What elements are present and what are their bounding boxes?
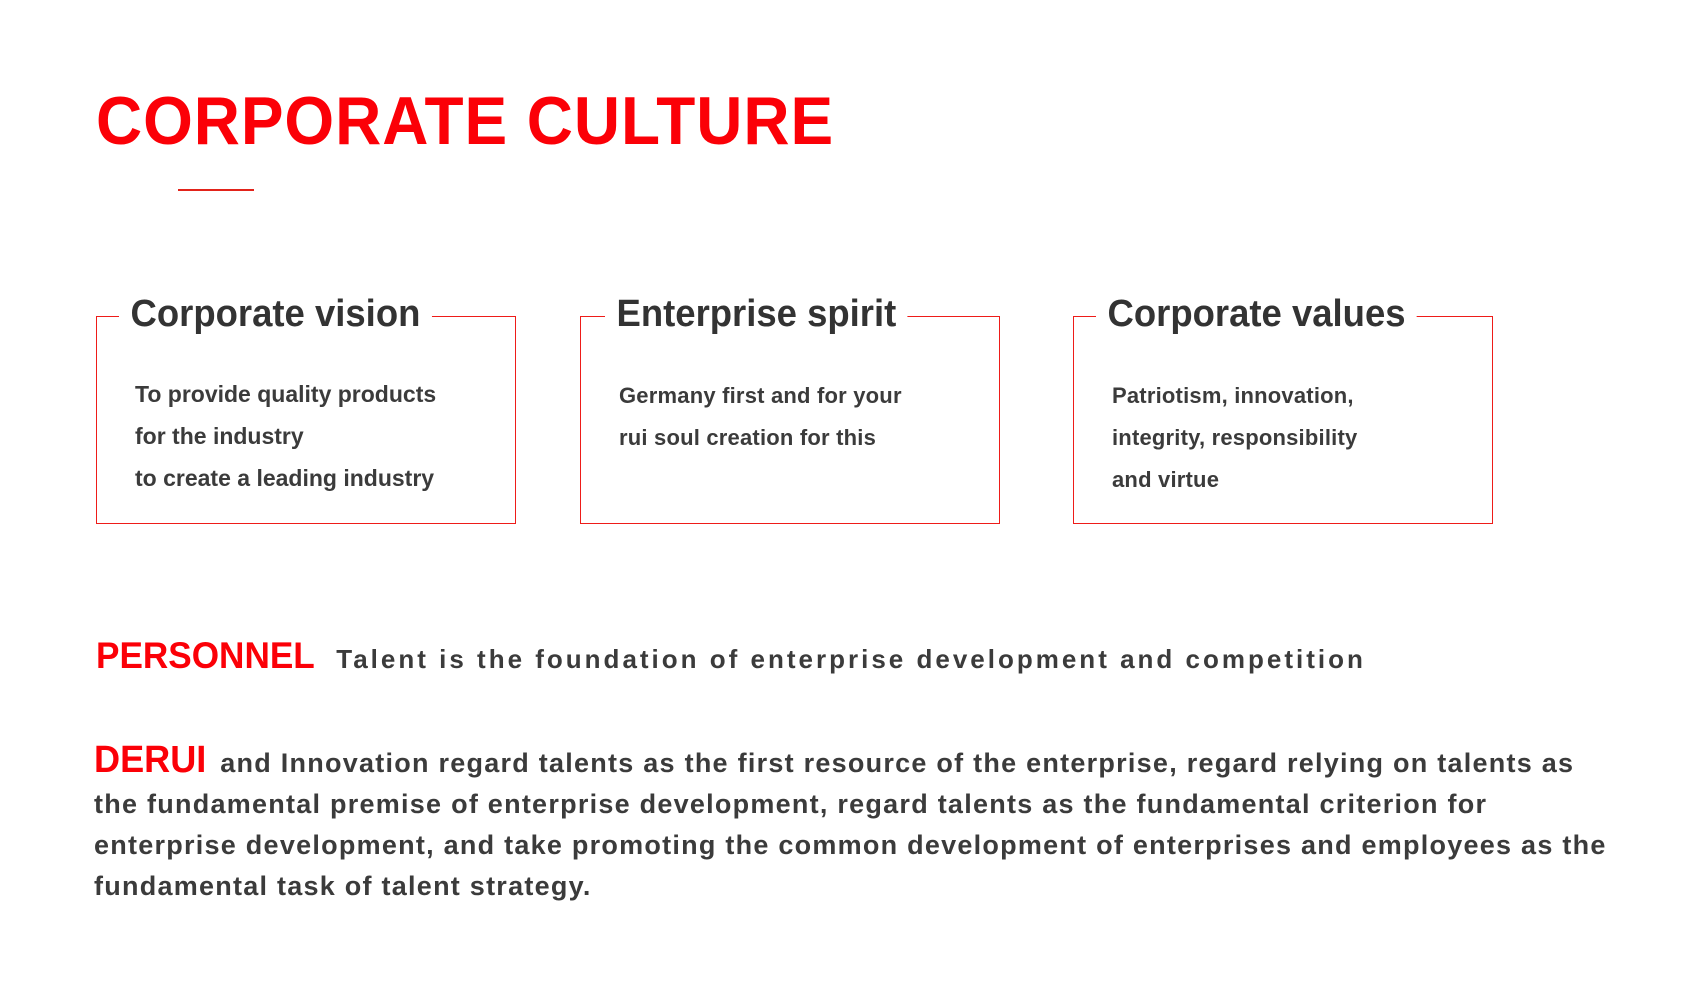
card-body-line: rui soul creation for this [619,417,981,459]
personnel-kicker: PERSONNEL [96,634,315,678]
card-body-corporate-values: Patriotism, innovation, integrity, respo… [1074,317,1492,501]
derui-paragraph: DERUIand Innovation regard talents as th… [94,742,1624,909]
card-body-enterprise-spirit: Germany first and for your rui soul crea… [581,317,999,459]
card-corporate-values: Corporate values Patriotism, innovation,… [1073,316,1493,524]
card-body-corporate-vision: To provide quality products for the indu… [97,317,515,499]
card-body-line: To provide quality products [135,373,497,415]
card-body-line: integrity, responsibility [1112,417,1474,459]
card-body-line: Germany first and for your [619,375,981,417]
card-body-line: for the industry [135,415,497,457]
personnel-row: PERSONNELTalent is the foundation of ent… [96,634,1366,681]
derui-description: and Innovation regard talents as the fir… [94,748,1607,901]
derui-kicker: DERUI [94,742,206,778]
card-enterprise-spirit: Enterprise spirit Germany first and for … [580,316,1000,524]
personnel-description: Talent is the foundation of enterprise d… [336,644,1366,674]
card-body-line: to create a leading industry [135,457,497,499]
card-body-line: and virtue [1112,459,1474,501]
derui-block: DERUIand Innovation regard talents as th… [94,742,1624,909]
slide-root: CORPORATE CULTURE Corporate vision To pr… [0,0,1701,992]
card-corporate-vision: Corporate vision To provide quality prod… [96,316,516,524]
card-body-line: Patriotism, innovation, [1112,375,1474,417]
